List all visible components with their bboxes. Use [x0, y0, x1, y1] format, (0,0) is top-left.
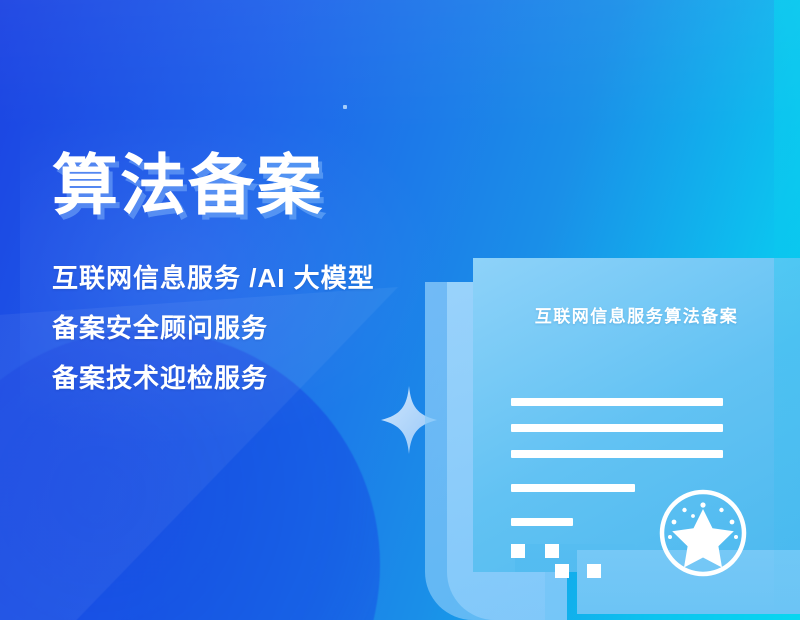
- document-square: [555, 564, 569, 578]
- document-square: [587, 564, 601, 578]
- background-speck: [343, 105, 347, 109]
- document-card-title: 互联网信息服务算法备案: [473, 302, 800, 327]
- document-text-line: [511, 424, 723, 432]
- page-title: 算法备案: [52, 150, 452, 221]
- document-square: [511, 544, 525, 558]
- background-top-sheen: [0, 0, 800, 130]
- document-text-line: [511, 484, 635, 492]
- document-text-line: [511, 398, 723, 406]
- headline-block: 算法备案 互联网信息服务 /AI 大模型 备案安全顾问服务 备案技术迎检服务: [52, 150, 452, 391]
- service-list-item-1: 互联网信息服务 /AI 大模型: [52, 265, 452, 291]
- service-list-item-2: 备案安全顾问服务: [52, 315, 452, 341]
- star-seal-icon: [655, 485, 751, 581]
- document-square: [545, 544, 559, 558]
- document-text-line: [511, 450, 723, 458]
- service-list: 互联网信息服务 /AI 大模型 备案安全顾问服务 备案技术迎检服务: [52, 265, 452, 391]
- document-text-line: [511, 518, 573, 526]
- promo-banner: 算法备案 互联网信息服务 /AI 大模型 备案安全顾问服务 备案技术迎检服务 互…: [0, 0, 800, 620]
